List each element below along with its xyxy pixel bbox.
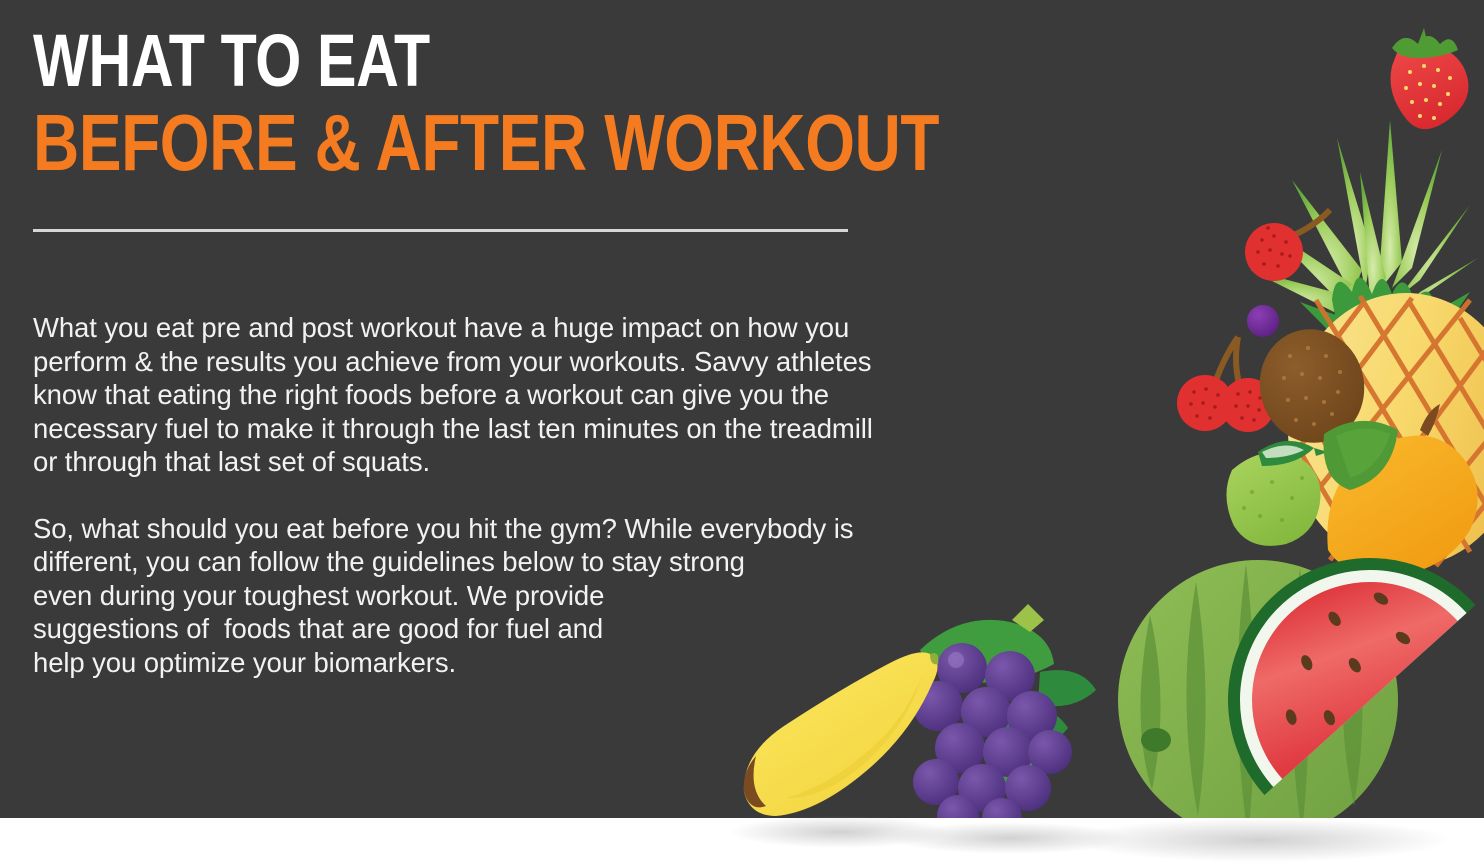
fruit-shadows: [730, 816, 1450, 862]
title-line-before-after-workout: BEFORE & AFTER WORKOUT: [33, 100, 753, 186]
infographic-canvas: WHAT TO EAT BEFORE & AFTER WORKOUT What …: [0, 0, 1484, 868]
title-divider: [33, 229, 848, 232]
page-title: WHAT TO EAT BEFORE & AFTER WORKOUT: [33, 22, 933, 186]
title-line-what-to-eat: WHAT TO EAT: [33, 22, 753, 100]
body-copy: What you eat pre and post workout have a…: [33, 311, 1108, 679]
paragraph-2: So, what should you eat before you hit t…: [33, 512, 1108, 680]
paragraph-1: What you eat pre and post workout have a…: [33, 311, 1108, 479]
